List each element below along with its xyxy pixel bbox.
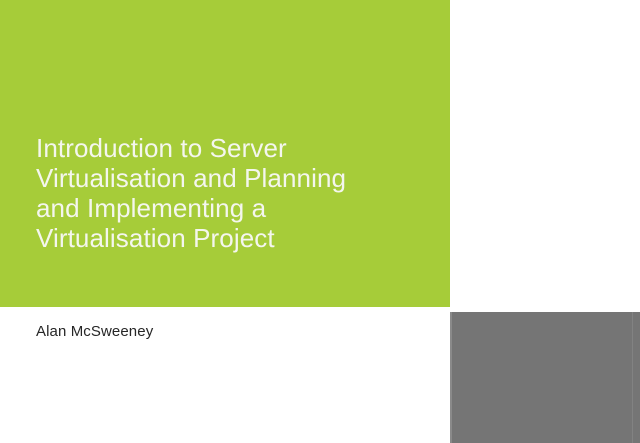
- author-byline: Alan McSweeney: [36, 322, 153, 342]
- author-name: Alan McSweeney: [36, 322, 153, 342]
- title-slide: Introduction to Server Virtualisation an…: [0, 0, 640, 443]
- title-line-1: Introduction to Server: [36, 133, 436, 163]
- title-line-2: Virtualisation and Planning: [36, 163, 436, 193]
- page-title: Introduction to Server Virtualisation an…: [36, 133, 436, 253]
- title-line-3: and Implementing a: [36, 193, 436, 223]
- title-line-4: Virtualisation Project: [36, 223, 436, 253]
- gray-accent-panel: [450, 312, 640, 443]
